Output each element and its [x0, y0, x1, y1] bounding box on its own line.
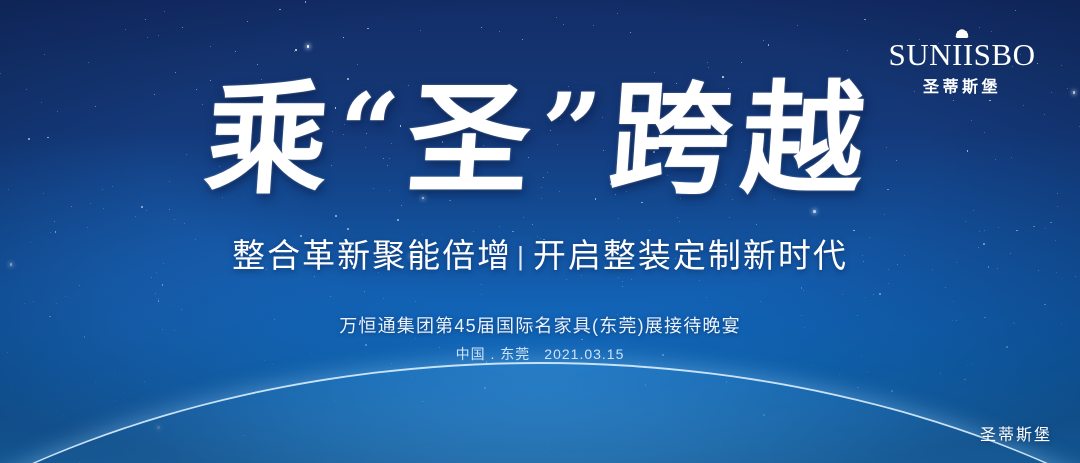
promotional-banner: SUNIISBO 圣蒂斯堡 乘“圣”跨越 整合革新聚能倍增|开启整装定制新时代 … [0, 0, 1080, 463]
logo-wordmark: SUNIISBO [878, 39, 1046, 70]
headline-part-1: 乘 [201, 67, 343, 211]
event-location: 中国 . 东莞 [456, 346, 531, 362]
headline: 乘“圣”跨越 [0, 78, 1080, 200]
event-details: 中国 . 东莞2021.03.15 [0, 344, 1080, 364]
event-title: 万恒通集团第45届国际名家具(东莞)展接待晚宴 [0, 312, 1080, 338]
headline-part-3: 跨越 [605, 67, 879, 211]
subtitle-separator: | [517, 241, 526, 272]
subtitle-right: 开启整装定制新时代 [533, 237, 848, 274]
subtitle-left: 整合革新聚能倍增 [232, 237, 512, 274]
headline-part-2: 圣 [403, 67, 545, 211]
event-date: 2021.03.15 [544, 346, 624, 362]
brand-watermark: 圣蒂斯堡 [980, 421, 1052, 445]
subtitle: 整合革新聚能倍增|开启整装定制新时代 [0, 229, 1080, 277]
lotus-sunburst-ornament-icon [878, 14, 1046, 38]
headline-quote-open: “ [334, 69, 412, 192]
headline-quote-close: ” [536, 69, 614, 192]
